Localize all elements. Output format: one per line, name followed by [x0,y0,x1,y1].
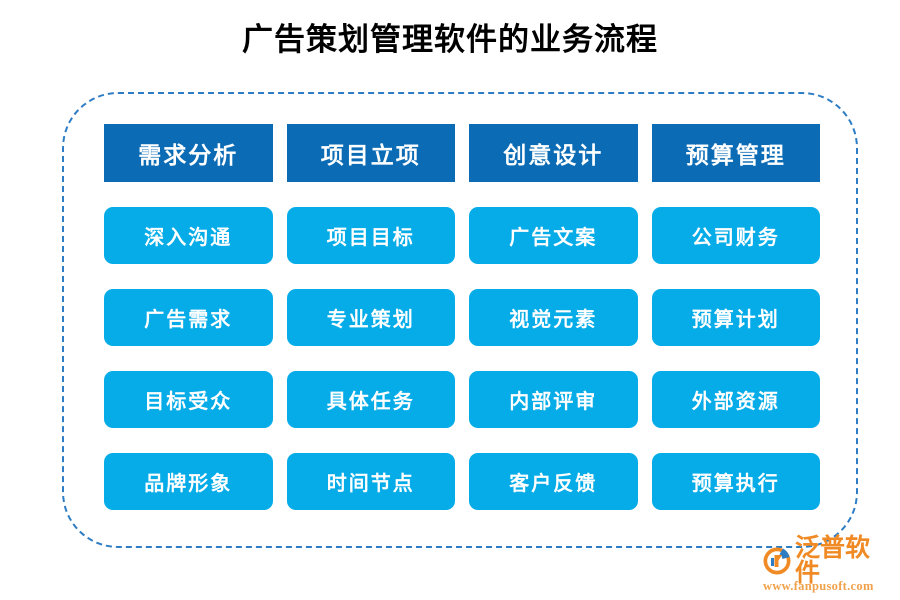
flow-item[interactable]: 预算计划 [652,289,821,346]
brand-url: www.fanpusoft.com [763,580,874,593]
brand-logo-row: 泛普软件 [762,544,890,578]
flow-item[interactable]: 外部资源 [652,371,821,428]
flow-column-header-3[interactable]: 创意设计 [469,124,638,182]
flow-item[interactable]: 项目目标 [287,207,456,264]
flow-item[interactable]: 预算执行 [652,453,821,510]
flow-item[interactable]: 广告文案 [469,207,638,264]
flow-column-1: 需求分析 深入沟通 广告需求 目标受众 品牌形象 [104,124,273,510]
flow-item[interactable]: 时间节点 [287,453,456,510]
flow-item[interactable]: 客户反馈 [469,453,638,510]
flow-item[interactable]: 视觉元素 [469,289,638,346]
flow-item[interactable]: 公司财务 [652,207,821,264]
flow-column-2: 项目立项 项目目标 专业策划 具体任务 时间节点 [287,124,456,510]
flow-column-header-4[interactable]: 预算管理 [652,124,821,182]
flow-item[interactable]: 具体任务 [287,371,456,428]
page-title: 广告策划管理软件的业务流程 [0,0,900,55]
flow-item[interactable]: 品牌形象 [104,453,273,510]
flow-item[interactable]: 目标受众 [104,371,273,428]
fanpu-circle-logo-icon [762,546,792,576]
flow-diagram-container: 需求分析 深入沟通 广告需求 目标受众 品牌形象 项目立项 项目目标 专业策划 … [62,92,858,548]
flow-column-3: 创意设计 广告文案 视觉元素 内部评审 客户反馈 [469,124,638,510]
flow-item[interactable]: 深入沟通 [104,207,273,264]
flow-item[interactable]: 广告需求 [104,289,273,346]
flow-item[interactable]: 内部评审 [469,371,638,428]
brand-name: 泛普软件 [795,536,890,586]
flow-column-header-2[interactable]: 项目立项 [287,124,456,182]
flow-grid: 需求分析 深入沟通 广告需求 目标受众 品牌形象 项目立项 项目目标 专业策划 … [104,124,820,510]
flow-column-4: 预算管理 公司财务 预算计划 外部资源 预算执行 [652,124,821,510]
flow-item[interactable]: 专业策划 [287,289,456,346]
brand-logo: 泛普软件 www.fanpusoft.com [762,538,890,592]
flow-column-header-1[interactable]: 需求分析 [104,124,273,182]
